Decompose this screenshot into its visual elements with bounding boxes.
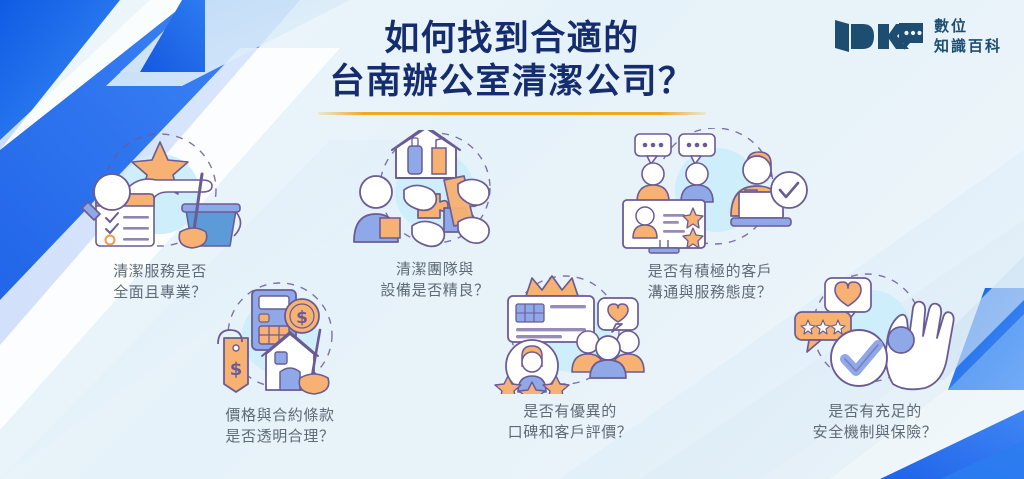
dkp-logo-mark-icon xyxy=(833,16,925,56)
item-safety[interactable]: 是否有充足的 安全機制與保險？ xyxy=(775,272,975,444)
item-pricing-caption: 價格與合約條款 是否透明合理？ xyxy=(180,405,380,448)
item-reviews-caption: 是否有優異的 口碑和客戶評價？ xyxy=(470,401,670,444)
item-safety-caption-line-1: 是否有充足的 xyxy=(775,401,975,422)
chat-laptop-check-monitor-icon xyxy=(605,128,815,259)
svg-text:$: $ xyxy=(296,308,308,328)
infographic-canvas: 如何找到合適的 台南辦公室清潔公司？ 數位 知識百科 xyxy=(0,0,1024,479)
item-pricing-caption-line-2: 是否透明合理？ xyxy=(180,426,380,447)
heart-stars-okhand-check-icon xyxy=(775,272,975,399)
brand-logo[interactable]: 數位 知識百科 xyxy=(833,16,1002,57)
item-pricing[interactable]: $ $ 價格與合約條款 是否透明合理？ xyxy=(180,280,380,448)
item-quality[interactable]: 清潔服務是否 全面且專業？ xyxy=(60,132,260,304)
logo-wordmark: 數位 知識百科 xyxy=(934,16,1002,57)
title-line-2: 台南辦公室清潔公司？ xyxy=(0,61,1024,104)
item-reviews-caption-line-1: 是否有優異的 xyxy=(470,401,670,422)
item-safety-caption-line-2: 安全機制與保險？ xyxy=(775,422,975,443)
logo-text-line-2: 知識百科 xyxy=(934,36,1002,56)
house-spray-puzzle-icon xyxy=(340,130,530,257)
logo-text-line-1: 數位 xyxy=(934,16,1002,36)
item-pricing-caption-line-1: 價格與合約條款 xyxy=(180,405,380,426)
checklist-magnifier-mop-icon xyxy=(60,132,260,259)
svg-text:$: $ xyxy=(230,359,243,380)
item-safety-caption: 是否有充足的 安全機制與保險？ xyxy=(775,401,975,444)
item-reviews-caption-line-2: 口碑和客戶評價？ xyxy=(470,422,670,443)
title-underline xyxy=(318,112,706,115)
